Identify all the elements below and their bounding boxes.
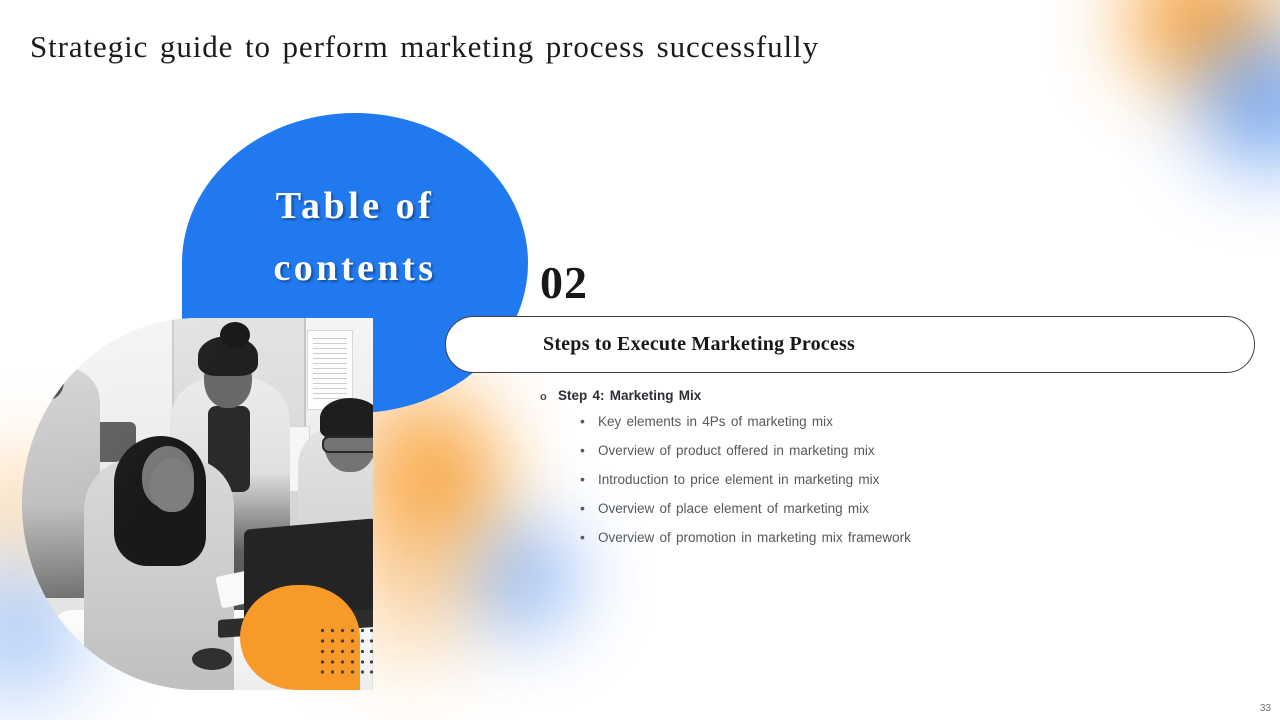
decor-dot-grid: [320, 628, 374, 674]
circle-bullet-icon: o: [540, 392, 558, 403]
toc-badge-line-1: Table of: [182, 175, 528, 237]
list-item-label: Overview of promotion in marketing mix f…: [598, 530, 911, 545]
slide-canvas: Strategic guide to perform marketing pro…: [0, 0, 1280, 720]
contents-step-heading: o Step 4: Marketing Mix: [540, 388, 1240, 403]
list-item-label: Key elements in 4Ps of marketing mix: [598, 414, 833, 429]
section-title-label: Steps to Execute Marketing Process: [543, 333, 855, 356]
page-number: 33: [1260, 703, 1271, 714]
list-item[interactable]: • Key elements in 4Ps of marketing mix: [580, 414, 1240, 429]
decor-blob-blue-top-right: [1198, 36, 1280, 166]
contents-step-label: Step 4: Marketing Mix: [558, 388, 701, 403]
list-item[interactable]: • Introduction to price element in marke…: [580, 472, 1240, 487]
dot-bullet-icon: •: [580, 472, 598, 486]
section-number: 02: [540, 256, 588, 309]
table-of-contents-badge-text: Table of contents: [182, 175, 528, 299]
dot-bullet-icon: •: [580, 443, 598, 457]
contents-list: o Step 4: Marketing Mix • Key elements i…: [540, 388, 1240, 559]
dot-bullet-icon: •: [580, 414, 598, 428]
list-item[interactable]: • Overview of place element of marketing…: [580, 501, 1240, 516]
list-item[interactable]: • Overview of product offered in marketi…: [580, 443, 1240, 458]
list-item[interactable]: • Overview of promotion in marketing mix…: [580, 530, 1240, 545]
list-item-label: Introduction to price element in marketi…: [598, 472, 879, 487]
decor-blob-orange-middle: [386, 424, 494, 530]
dot-bullet-icon: •: [580, 501, 598, 515]
toc-badge-line-2: contents: [182, 237, 528, 299]
list-item-label: Overview of place element of marketing m…: [598, 501, 869, 516]
section-title-pill[interactable]: Steps to Execute Marketing Process: [445, 316, 1255, 373]
decor-blob-orange-top-right: [1128, 0, 1278, 86]
dot-bullet-icon: •: [580, 530, 598, 544]
page-title: Strategic guide to perform marketing pro…: [30, 29, 1130, 65]
list-item-label: Overview of product offered in marketing…: [598, 443, 875, 458]
